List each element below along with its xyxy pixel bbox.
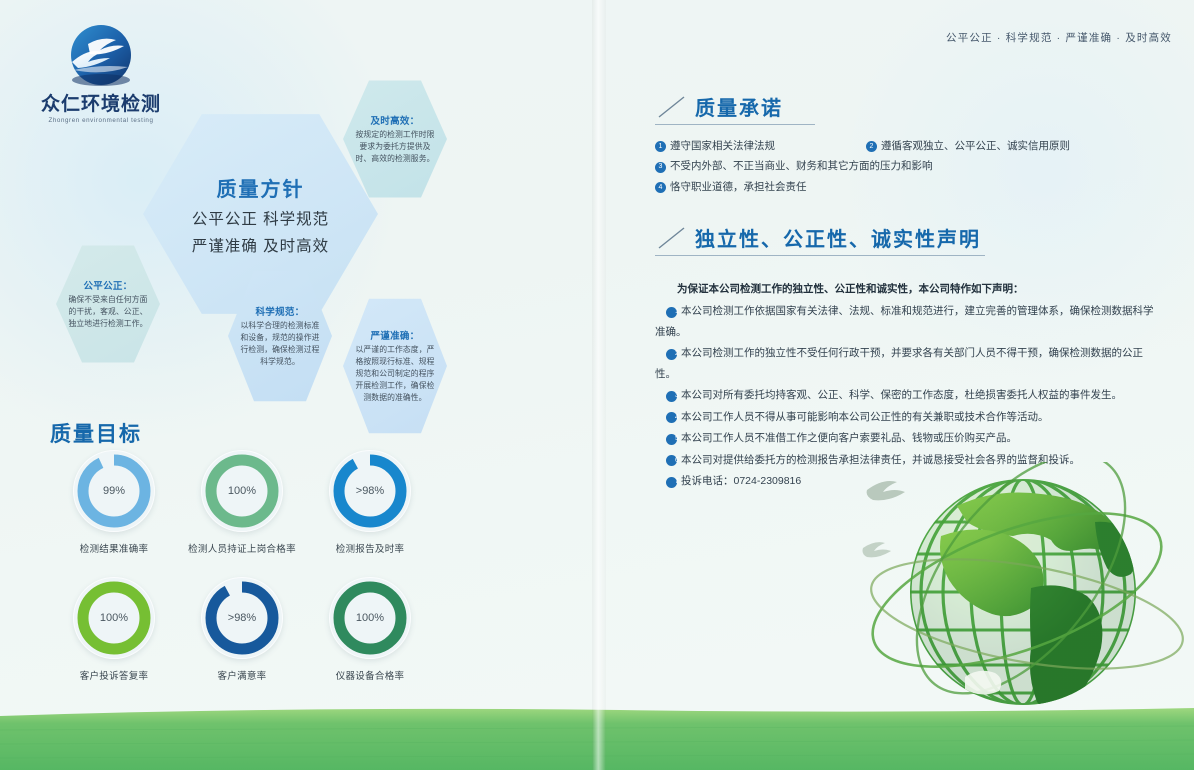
section-header-declaration: 独立性、公正性、诚实性声明	[655, 223, 1155, 256]
goal-label: 客户满意率	[178, 668, 306, 682]
grass-field-image	[0, 704, 1194, 770]
bullet-number: 3	[666, 391, 677, 402]
donut-value: 99%	[73, 450, 155, 532]
declaration-text: 投诉电话：0724-2309816	[681, 475, 801, 487]
right-column: 质量承诺 1遵守国家相关法律法规 2遵循客观独立、公平公正、诚实信用原则 3不受…	[655, 92, 1155, 492]
page-fold-seam	[592, 0, 606, 770]
hex-node-rigorous-accurate: 严谨准确： 以严谨的工作态度，严格按照现行标准、规程规范和公司制定的程序开展检测…	[343, 296, 447, 436]
donut-chart: >98%	[201, 577, 283, 659]
dove-icon	[863, 542, 892, 557]
bullet-number: 7	[666, 477, 677, 488]
promise-list: 1遵守国家相关法律法规 2遵循客观独立、公平公正、诚实信用原则 3不受内外部、不…	[655, 136, 1155, 197]
list-item: 3本公司对所有委托均持客观、公正、科学、保密的工作态度，杜绝损害委托人权益的事件…	[655, 385, 1155, 405]
quality-goals-title: 质量目标	[50, 418, 142, 448]
hex-center-line2: 严谨准确 及时高效	[192, 234, 329, 256]
goal-label: 检测结果准确率	[50, 541, 178, 555]
green-globe-sculpture-image	[845, 462, 1190, 727]
declaration-text: 本公司工作人员不得从事可能影响本公司公正性的有关兼职或技术合作等活动。	[681, 411, 1049, 423]
list-item: 3不受内外部、不正当商业、财务和其它方面的压力和影响	[655, 156, 1155, 176]
declaration-entry: 2本公司检测工作的独立性不受任何行政干预，并要求各有关部门人员不得干预，确保检测…	[655, 343, 1155, 384]
donut-chart: >98%	[329, 450, 411, 532]
hex-node-body: 以科学合理的检测标准和设备，规范的操作进行检测，确保检测过程科学规范。	[237, 320, 323, 368]
hex-node-title: 严谨准确：	[370, 328, 419, 342]
goal-label: 仪器设备合格率	[306, 668, 434, 682]
hex-node-title: 及时高效：	[370, 113, 419, 127]
promise-text: 遵守国家相关法律法规	[670, 140, 775, 152]
list-item: 4本公司工作人员不得从事可能影响本公司公正性的有关兼职或技术合作等活动。	[655, 407, 1155, 427]
goal-item: 100% 仪器设备合格率	[306, 577, 434, 682]
goal-label: 客户投诉答复率	[50, 668, 178, 682]
hex-node-body: 按规定的检测工作时限要求为委托方提供及时、高效的检测服务。	[352, 129, 438, 165]
declaration-entry: 5本公司工作人员不准借工作之便向客户索要礼品、钱物或压价购买产品。	[655, 428, 1155, 448]
declaration-body: 为保证本公司检测工作的独立性、公正性和诚实性，本公司特作如下声明： 1本公司检测…	[655, 278, 1155, 491]
goal-label: 检测报告及时率	[306, 541, 434, 555]
section-header-promise: 质量承诺	[655, 92, 1155, 125]
promise-entry: 3不受内外部、不正当商业、财务和其它方面的压力和影响	[655, 156, 933, 176]
pedestal-highlight	[965, 671, 1001, 695]
hex-center-title: 质量方针	[217, 173, 305, 202]
hex-node-body: 确保不受来自任何方面的干扰，客观、公正、独立地进行检测工作。	[65, 294, 151, 330]
quality-policy-hex-diagram: 质量方针 公平公正 科学规范 严谨准确 及时高效 及时高效： 按规定的检测工作时…	[48, 68, 488, 428]
donut-value: 100%	[201, 450, 283, 532]
heading-rule	[655, 124, 815, 125]
bullet-number: 6	[666, 455, 677, 466]
goal-label: 检测人员持证上岗合格率	[178, 541, 306, 555]
goal-item: 99% 检测结果准确率	[50, 450, 178, 555]
list-item: 5本公司工作人员不准借工作之便向客户索要礼品、钱物或压价购买产品。	[655, 428, 1155, 448]
donut-value: >98%	[329, 450, 411, 532]
hex-node-fair-impartial: 公平公正： 确保不受来自任何方面的干扰，客观、公正、独立地进行检测工作。	[56, 243, 160, 365]
promise-heading: 质量承诺	[695, 92, 783, 121]
declaration-text: 本公司工作人员不准借工作之便向客户索要礼品、钱物或压价购买产品。	[681, 432, 1017, 444]
goal-item: >98% 客户满意率	[178, 577, 306, 682]
hex-node-body: 以严谨的工作态度，严格按照现行标准、规程规范和公司制定的程序开展检测工作，确保检…	[352, 344, 438, 404]
goal-row-2: 100% 客户投诉答复率 >98% 客户满意率 100% 仪器设备合格率	[50, 577, 510, 682]
goal-item: 100% 检测人员持证上岗合格率	[178, 450, 306, 555]
bullet-number: 5	[666, 434, 677, 445]
promise-entry: 2遵循客观独立、公平公正、诚实信用原则	[866, 136, 1070, 156]
dove-icon	[867, 481, 905, 500]
list-item: 2本公司检测工作的独立性不受任何行政干预，并要求各有关部门人员不得干预，确保检测…	[655, 343, 1155, 384]
slash-accent-icon	[658, 227, 686, 249]
donut-chart: 100%	[329, 577, 411, 659]
bullet-number: 1	[666, 307, 677, 318]
list-item: 1本公司检测工作依据国家有关法律、法规、标准和规范进行，建立完善的管理体系，确保…	[655, 301, 1155, 342]
donut-chart: 99%	[73, 450, 155, 532]
donut-chart: 100%	[201, 450, 283, 532]
declaration-lead: 为保证本公司检测工作的独立性、公正性和诚实性，本公司特作如下声明：	[655, 278, 1155, 300]
list-item: 1遵守国家相关法律法规 2遵循客观独立、公平公正、诚实信用原则	[655, 136, 1155, 156]
heading-rule	[655, 255, 985, 256]
hex-node-title: 科学规范：	[255, 304, 304, 318]
hex-node-title: 公平公正：	[83, 278, 132, 292]
declaration-entry: 1本公司检测工作依据国家有关法律、法规、标准和规范进行，建立完善的管理体系，确保…	[655, 301, 1155, 342]
goal-row-1: 99% 检测结果准确率 100% 检测人员持证上岗合格率 >98% 检测报告及时…	[50, 450, 510, 555]
bullet-number: 3	[655, 162, 666, 173]
promise-text: 不受内外部、不正当商业、财务和其它方面的压力和影响	[670, 160, 933, 172]
declaration-entry: 3本公司对所有委托均持客观、公正、科学、保密的工作态度，杜绝损害委托人权益的事件…	[655, 385, 1155, 405]
promise-entry: 1遵守国家相关法律法规	[655, 136, 840, 156]
declaration-text: 本公司对所有委托均持客观、公正、科学、保密的工作态度，杜绝损害委托人权益的事件发…	[681, 389, 1122, 401]
bullet-number: 4	[666, 412, 677, 423]
goal-item: >98% 检测报告及时率	[306, 450, 434, 555]
promise-text: 遵循客观独立、公平公正、诚实信用原则	[881, 140, 1070, 152]
declaration-text: 本公司检测工作依据国家有关法律、法规、标准和规范进行，建立完善的管理体系，确保检…	[655, 305, 1154, 337]
promise-entry: 4恪守职业道德，承担社会责任	[655, 177, 807, 197]
declaration-text: 本公司检测工作的独立性不受任何行政干预，并要求各有关部门人员不得干预，确保检测数…	[655, 347, 1143, 379]
bullet-number: 1	[655, 141, 666, 152]
bullet-number: 2	[866, 141, 877, 152]
declaration-heading: 独立性、公正性、诚实性声明	[695, 223, 981, 252]
quality-goals-chart: 99% 检测结果准确率 100% 检测人员持证上岗合格率 >98% 检测报告及时…	[50, 450, 510, 682]
donut-value: 100%	[329, 577, 411, 659]
list-item: 4恪守职业道德，承担社会责任	[655, 177, 1155, 197]
donut-value: >98%	[201, 577, 283, 659]
promise-text: 恪守职业道德，承担社会责任	[670, 181, 807, 193]
bullet-number: 4	[655, 182, 666, 193]
donut-chart: 100%	[73, 577, 155, 659]
bullet-number: 2	[666, 349, 677, 360]
goal-item: 100% 客户投诉答复率	[50, 577, 178, 682]
declaration-entry: 4本公司工作人员不得从事可能影响本公司公正性的有关兼职或技术合作等活动。	[655, 407, 1155, 427]
slash-accent-icon	[658, 96, 686, 118]
donut-value: 100%	[73, 577, 155, 659]
brochure-spread: 众仁环境检测 Zhongren environmental testing 公平…	[0, 0, 1194, 770]
hex-center-line1: 公平公正 科学规范	[192, 207, 329, 229]
header-tagline: 公平公正 · 科学规范 · 严谨准确 · 及时高效	[946, 30, 1172, 45]
